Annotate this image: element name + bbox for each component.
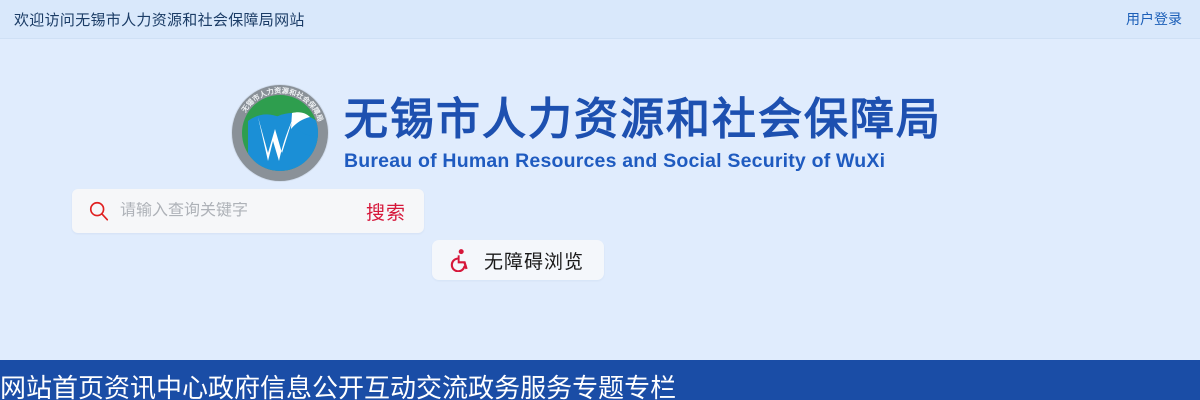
welcome-message: 欢迎访问无锡市人力资源和社会保障局网站 bbox=[14, 9, 305, 30]
site-titles: 无锡市人力资源和社会保障局 Bureau of Human Resources … bbox=[344, 93, 942, 172]
emblem-w-mark bbox=[242, 95, 318, 171]
search-button[interactable]: 搜索 bbox=[358, 198, 414, 225]
user-login-link[interactable]: 用户登录 bbox=[1126, 9, 1182, 29]
site-title-english: Bureau of Human Resources and Social Sec… bbox=[344, 150, 942, 173]
nav-list: 网站首页 资讯中心 政府信息公开 互动交流 政务服务 专题专栏 bbox=[0, 373, 676, 400]
top-bar: 欢迎访问无锡市人力资源和社会保障局网站 用户登录 bbox=[0, 0, 1200, 39]
wheelchair-icon bbox=[448, 248, 472, 272]
brand-block: 无锡市人力资源和社会保障局 无锡市人力资源和社会保障局 Bureau of Hu… bbox=[232, 85, 942, 181]
nav-item-topics[interactable]: 专题专栏 bbox=[572, 373, 676, 400]
site-title-chinese: 无锡市人力资源和社会保障局 bbox=[344, 95, 942, 144]
site-header: 无锡市人力资源和社会保障局 无锡市人力资源和社会保障局 Bureau of Hu… bbox=[0, 39, 1200, 360]
top-bar-right: 用户登录 bbox=[1126, 9, 1182, 29]
search-input[interactable] bbox=[110, 202, 358, 220]
accessibility-browse-button[interactable]: 无障碍浏览 bbox=[432, 240, 604, 280]
nav-item-news[interactable]: 资讯中心 bbox=[104, 373, 208, 400]
main-navigation: 网站首页 资讯中心 政府信息公开 互动交流 政务服务 专题专栏 bbox=[0, 360, 1200, 400]
nav-item-gov-info[interactable]: 政府信息公开 bbox=[208, 373, 364, 400]
search-icon bbox=[88, 200, 110, 222]
nav-item-services[interactable]: 政务服务 bbox=[468, 373, 572, 400]
accessibility-label: 无障碍浏览 bbox=[484, 247, 584, 274]
emblem-disc bbox=[242, 95, 318, 171]
search-box[interactable]: 搜索 bbox=[72, 189, 424, 233]
nav-item-interaction[interactable]: 互动交流 bbox=[364, 373, 468, 400]
wuxi-hrss-emblem-icon: 无锡市人力资源和社会保障局 bbox=[232, 85, 328, 181]
nav-item-home[interactable]: 网站首页 bbox=[0, 373, 104, 400]
